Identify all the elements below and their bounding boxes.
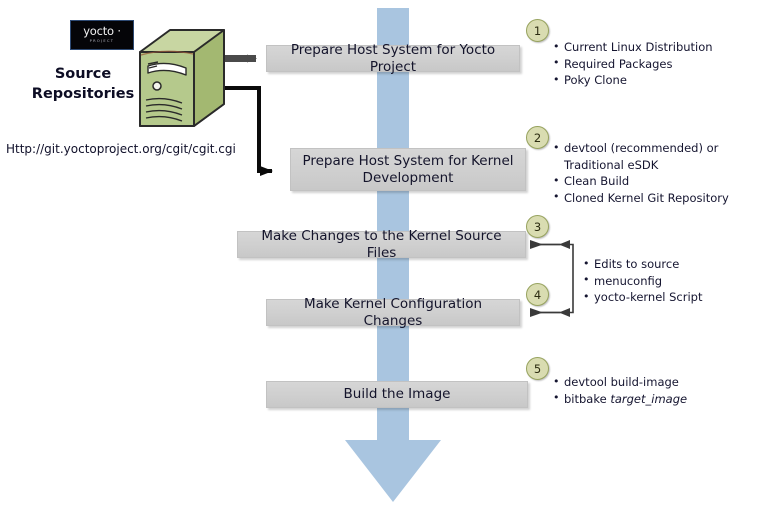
source-repositories-url: Http://git.yoctoproject.org/cgit/cgit.cg… [6,142,236,156]
workflow-diagram: yocto · PROJECT Source Repositories Http… [0,0,769,517]
source-label-line1: Source [24,64,142,84]
step-number-1-text: 1 [534,24,541,38]
process-box-step2[interactable]: Prepare Host System for Kernel Developme… [290,148,526,191]
step-number-5: 5 [526,357,549,380]
step-number-3-text: 3 [534,220,541,234]
step-number-2: 2 [526,126,549,149]
list-item: Clean Build [553,173,729,190]
list-item: Current Linux Distribution [553,39,713,56]
process-box-step3-label: Make Changes to the Kernel Source Files [246,228,517,262]
yocto-logo-subtitle: PROJECT [90,38,115,44]
bullet-list-step2: devtool (recommended) or Traditional eSD… [553,140,729,206]
bullet-list-step5: devtool build-image bitbake target_image [553,374,687,407]
list-item: menuconfig [583,273,703,290]
step-number-4-text: 4 [534,288,541,302]
arrow-server-to-step2 [222,88,272,171]
process-box-step4-label: Make Kernel Configuration Changes [275,296,511,330]
arrowhead-step3-icon [530,240,543,249]
flow-arrowhead-icon [345,440,441,502]
source-label-line2: Repositories [24,84,142,104]
process-box-step4[interactable]: Make Kernel Configuration Changes [266,299,520,326]
process-box-step3[interactable]: Make Changes to the Kernel Source Files [237,231,526,258]
yocto-project-logo: yocto · PROJECT [70,20,134,50]
process-box-step5-label: Build the Image [344,386,451,403]
step-number-2-text: 2 [534,131,541,145]
step-number-3: 3 [526,215,549,238]
process-box-step2-line1: Prepare Host System for Kernel [302,153,513,169]
list-item: bitbake target_image [553,391,687,408]
source-repositories-label: Source Repositories [24,64,142,104]
process-box-step1-label: Prepare Host System for Yocto Project [275,42,511,76]
process-box-step2-label: Prepare Host System for Kernel Developme… [302,153,513,187]
list-item: devtool (recommended) or [553,140,729,157]
arrowhead-step4-icon [530,308,543,317]
server-tower-icon [136,26,228,138]
process-box-step5[interactable]: Build the Image [266,381,528,408]
list-item-continuation: Traditional eSDK [553,157,729,174]
bullet-list-step1: Current Linux Distribution Required Pack… [553,39,713,89]
list-item: devtool build-image [553,374,687,391]
process-box-step2-line2: Development [363,170,454,186]
list-item: Edits to source [583,256,703,273]
list-item: Cloned Kernel Git Repository [553,190,729,207]
list-item: yocto-kernel Script [583,289,703,306]
bitbake-prefix: bitbake [564,392,610,406]
bullet-list-steps-3-4: Edits to source menuconfig yocto-kernel … [583,256,703,306]
yocto-logo-word: yocto · [83,26,121,38]
step-number-5-text: 5 [534,362,541,376]
list-item: Poky Clone [553,72,713,89]
step-number-4: 4 [526,283,549,306]
list-item: Required Packages [553,56,713,73]
bitbake-target-image: target_image [610,392,687,406]
step-number-1: 1 [526,19,549,42]
process-box-step1[interactable]: Prepare Host System for Yocto Project [266,45,520,72]
